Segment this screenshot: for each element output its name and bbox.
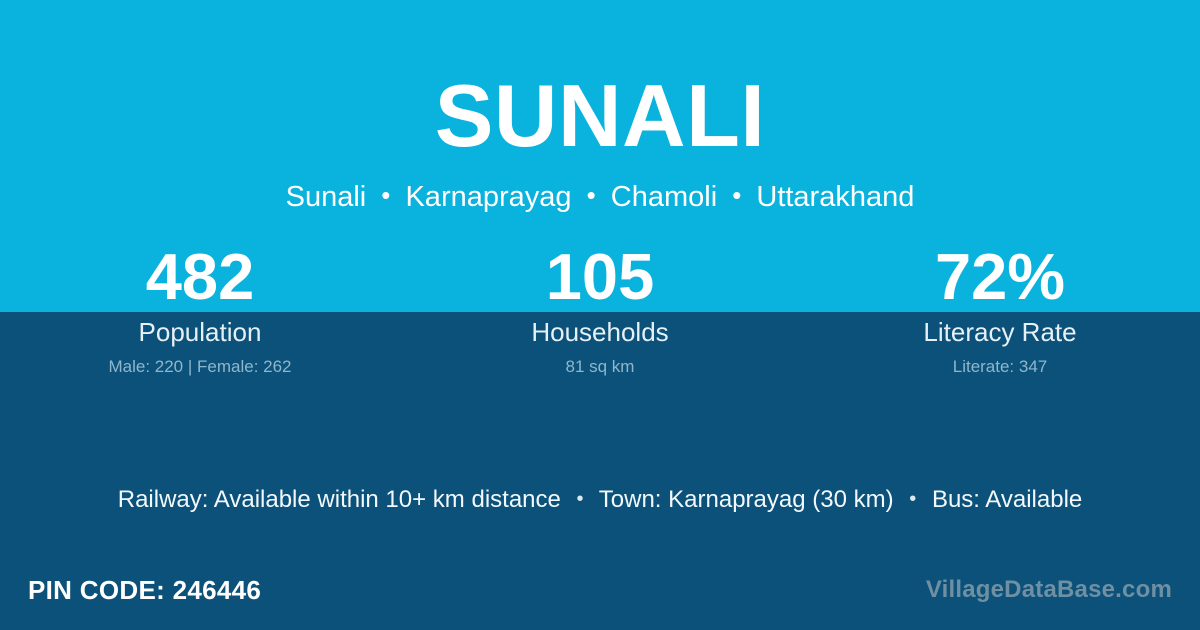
- transport-separator-icon: •: [900, 488, 925, 510]
- breadcrumb-item-state: Uttarakhand: [756, 181, 914, 213]
- stat-value-households: 105: [400, 243, 800, 311]
- breadcrumb-separator-icon: •: [374, 180, 397, 210]
- breadcrumb-separator-icon: •: [580, 180, 603, 210]
- stat-value-population: 482: [0, 243, 400, 311]
- card-footer: PIN CODE: 246446 VillageDataBase.com: [0, 550, 1200, 630]
- village-info-card: SUNALI Sunali • Karnaprayag • Chamoli • …: [0, 0, 1200, 630]
- stat-sub-literacy-rate: Literate: 347: [800, 357, 1200, 377]
- site-brand-label: VillageDataBase.com: [926, 576, 1172, 604]
- page-title: SUNALI: [0, 72, 1200, 160]
- stat-value-literacy-rate: 72%: [800, 243, 1200, 311]
- transport-separator-icon: •: [568, 488, 593, 510]
- transport-info-row: Railway: Available within 10+ km distanc…: [0, 484, 1200, 517]
- stat-sub-households: 81 sq km: [400, 357, 800, 377]
- stats-row: 482 Population Male: 220 | Female: 262 1…: [0, 243, 1200, 377]
- breadcrumb-separator-icon: •: [725, 180, 748, 210]
- transport-item-bus: Bus: Available: [932, 486, 1082, 513]
- stat-households: 105 Households 81 sq km: [400, 243, 800, 377]
- breadcrumb-item-block: Karnaprayag: [405, 181, 571, 213]
- stat-label-literacy-rate: Literacy Rate: [800, 317, 1200, 347]
- stat-population: 482 Population Male: 220 | Female: 262: [0, 243, 400, 377]
- transport-item-railway: Railway: Available within 10+ km distanc…: [118, 486, 561, 513]
- breadcrumb-item-village: Sunali: [286, 181, 367, 213]
- breadcrumb-item-district: Chamoli: [611, 181, 717, 213]
- card-header: SUNALI Sunali • Karnaprayag • Chamoli • …: [0, 0, 1200, 214]
- pin-code-label: PIN CODE: 246446: [28, 575, 261, 606]
- transport-item-town: Town: Karnaprayag (30 km): [599, 486, 894, 513]
- breadcrumb: Sunali • Karnaprayag • Chamoli • Uttarak…: [0, 182, 1200, 214]
- stat-label-population: Population: [0, 317, 400, 347]
- stat-sub-population: Male: 220 | Female: 262: [0, 357, 400, 377]
- stat-label-households: Households: [400, 317, 800, 347]
- stat-literacy-rate: 72% Literacy Rate Literate: 347: [800, 243, 1200, 377]
